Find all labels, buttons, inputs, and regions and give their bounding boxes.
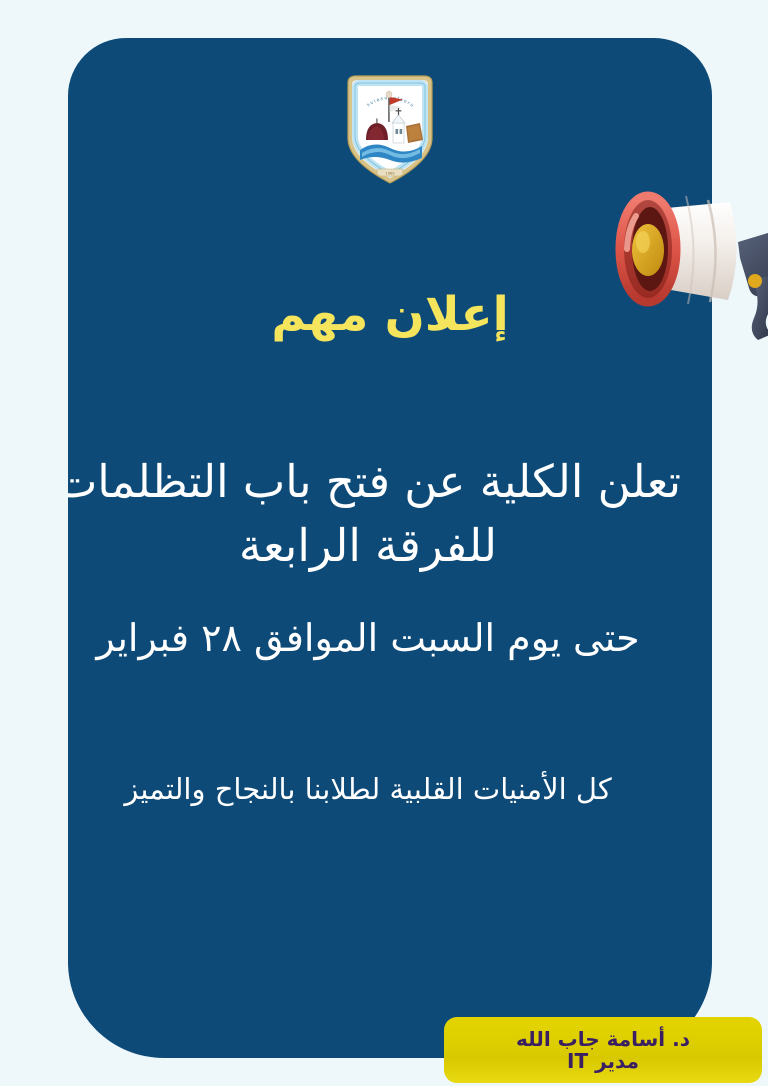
announcement-poster-card: a s v i e s u n o t s o r u s [68,38,712,1058]
college-emblem: a s v i e s u n o t s o r u s [68,74,712,186]
signature-role: مدير IT [567,1050,639,1072]
announcement-wishes: كل الأمنيات القلبية لطلابنا بالنجاح والت… [68,769,712,810]
signature-badge: د. أسامة جاب الله مدير IT [444,1017,762,1083]
announcement-line-1: تعلن الكلية عن فتح باب التظلمات [68,450,712,514]
announcement-line-2: للفرقة الرابعة [68,514,712,578]
announcement-deadline: حتى يوم السبت الموافق ٢٨ فبراير [68,612,712,665]
university-crest-emblem-icon: a s v i e s u n o t s o r u s [344,74,436,186]
signature-name: د. أسامة جاب الله [516,1028,690,1050]
announcement-body: تعلن الكلية عن فتح باب التظلمات للفرقة ا… [68,450,712,810]
page-title: إعلان مهم [68,286,712,345]
svg-text:1969: 1969 [385,171,395,175]
